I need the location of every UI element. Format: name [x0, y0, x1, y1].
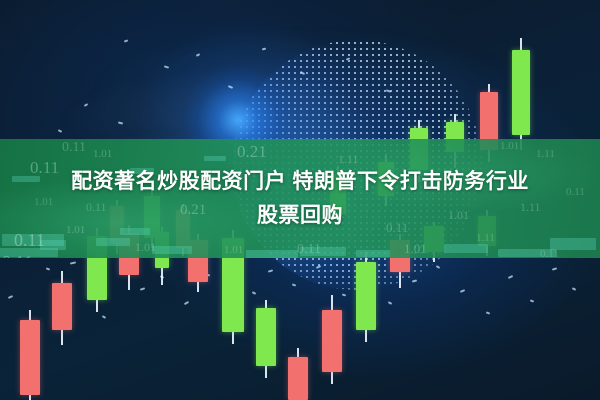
price-label: 0.11: [62, 140, 86, 156]
data-bar: [246, 250, 298, 258]
title-line-2: 股票回购: [0, 199, 600, 233]
price-label: 1.11: [476, 232, 495, 244]
price-label: 0.11: [297, 242, 321, 258]
data-bar: [96, 238, 130, 246]
data-bar: [152, 246, 192, 254]
candle-body: [20, 320, 40, 395]
data-bar: [204, 156, 226, 161]
candle-body: [256, 308, 276, 366]
candle-up: [356, 252, 376, 342]
candle-down: [322, 295, 342, 384]
price-label: 1.11: [536, 148, 555, 160]
candle-body: [288, 357, 308, 400]
data-bar: [444, 244, 488, 253]
candle-down: [288, 348, 308, 400]
candle-body: [512, 50, 530, 135]
price-label: 1.01: [404, 241, 427, 257]
price-label: 0.11: [2, 252, 33, 258]
candle-body: [52, 283, 72, 330]
candle-down: [52, 271, 72, 345]
candle-up: [512, 38, 530, 150]
banner-image: 0.111.010.110.110.111.011.010.111.010.21…: [0, 0, 600, 400]
price-label: 0.21: [237, 142, 267, 162]
price-label: 1.01: [135, 240, 156, 255]
price-label: 0.11: [540, 248, 559, 258]
price-label: 1.01: [224, 244, 243, 256]
page-title: 配资著名炒股配资门户 特朗普下令打击防务行业 股票回购: [0, 165, 600, 233]
price-label: 1.01: [500, 140, 519, 152]
data-bar: [356, 250, 390, 257]
candle-up: [256, 300, 276, 378]
price-label: 1.01: [93, 148, 112, 160]
candle-body: [322, 310, 342, 372]
candle-body: [356, 262, 376, 330]
candle-down: [20, 310, 40, 400]
price-label: 0.11: [14, 230, 45, 251]
title-line-1: 配资著名炒股配资门户 特朗普下令打击防务行业: [0, 165, 600, 199]
